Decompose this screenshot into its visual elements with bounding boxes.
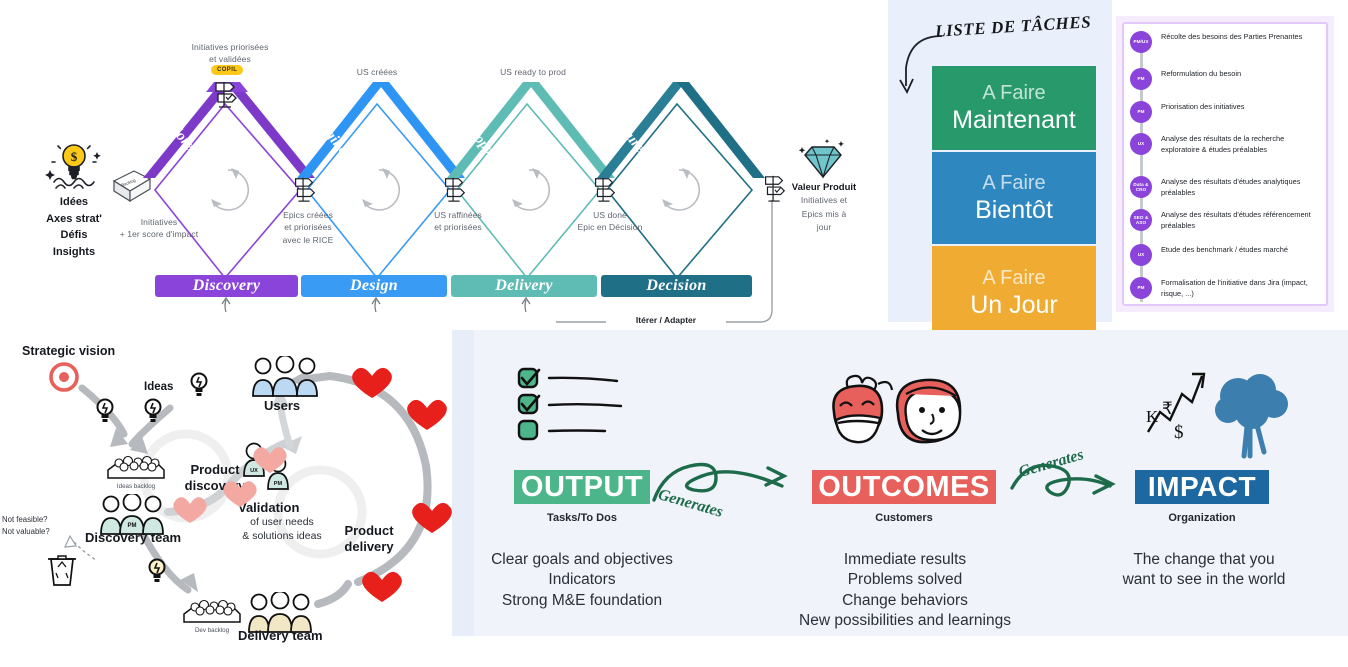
role-badge-7: PM bbox=[1130, 277, 1152, 299]
us-creees-caption: US créées bbox=[332, 66, 422, 78]
role-text-6: Etude des benchmark / études marché bbox=[1161, 244, 1313, 255]
loop-label: Itérer / Adapter bbox=[606, 315, 726, 325]
gate-signpost-icon-3 bbox=[590, 172, 618, 206]
role-badge-4: Data & CRO bbox=[1130, 176, 1152, 198]
outcomes-body: Immediate results Problems solved Change… bbox=[760, 550, 1050, 632]
role-text-4: Analyse des résultats d'études analytiqu… bbox=[1161, 176, 1313, 199]
task-card-unjour-big: Un Jour bbox=[970, 290, 1058, 320]
phase-bar-decision[interactable]: Decision bbox=[601, 275, 752, 297]
epics-gate-line-2: et priorisées bbox=[272, 221, 344, 233]
task-card-bientot[interactable]: A Faire Bientôt bbox=[932, 152, 1096, 244]
epics-gate-line-1: Epics créées bbox=[272, 209, 344, 221]
impact-body-1: The change that you bbox=[1090, 550, 1318, 570]
checklist-icon bbox=[515, 365, 645, 443]
valeur-line-1: Initiatives et bbox=[778, 194, 870, 208]
outcomes-tag: OUTCOMES bbox=[812, 470, 996, 504]
copil-badge: COPIL bbox=[211, 65, 243, 75]
impact-body: The change that you want to see in the w… bbox=[1090, 550, 1318, 591]
output-body: Clear goals and objectives Indicators St… bbox=[460, 550, 704, 611]
us-done-gate-caption: US done Epic en Décision bbox=[568, 209, 652, 234]
role-badge-0: PM/UX bbox=[1130, 31, 1152, 53]
gate-signpost-icon-1 bbox=[290, 172, 318, 206]
role-text-5: Analyse des résultats d'études référence… bbox=[1161, 209, 1313, 232]
us-raffinees-line-1: US raffinées bbox=[422, 209, 494, 221]
phase-bar-design[interactable]: Design bbox=[301, 275, 447, 297]
copil-milestone-caption: Initiatives priorisées et validées bbox=[170, 41, 290, 66]
output-body-1: Clear goals and objectives bbox=[460, 550, 704, 570]
valeur-line-3: jour bbox=[778, 221, 870, 235]
happy-faces-icon bbox=[820, 368, 1000, 458]
task-card-bientot-big: Bientôt bbox=[975, 195, 1053, 225]
role-item-5[interactable]: SEO & ASO Analyse des résultats d'études… bbox=[1130, 209, 1313, 232]
us-raffinees-gate-caption: US raffinées et priorisées bbox=[422, 209, 494, 234]
impact-body-2: want to see in the world bbox=[1090, 570, 1318, 590]
us-ready-caption: US ready to prod bbox=[483, 66, 583, 78]
role-badge-3: UX bbox=[1130, 133, 1152, 155]
role-text-7: Formalisation de l'initiative dans Jira … bbox=[1161, 277, 1313, 300]
role-badge-1: PM bbox=[1130, 68, 1152, 90]
phase-bar-delivery[interactable]: Delivery bbox=[451, 275, 597, 297]
svg-text:$: $ bbox=[1174, 422, 1184, 443]
us-raffinees-line-2: et priorisées bbox=[422, 221, 494, 233]
epics-gate-caption: Epics créées et priorisées avec le RICE bbox=[272, 209, 344, 246]
task-card-unjour[interactable]: A Faire Un Jour bbox=[932, 246, 1096, 340]
output-body-3: Strong M&E foundation bbox=[460, 591, 704, 611]
signpost-icon bbox=[210, 78, 240, 110]
valeur-line-2: Epics mis à bbox=[778, 208, 870, 222]
outcomes-body-2: Problems solved bbox=[760, 570, 1050, 590]
impact-subtitle: Organization bbox=[1135, 512, 1269, 524]
copil-caption-2: et validées bbox=[170, 53, 290, 65]
us-done-line-2: Epic en Décision bbox=[568, 221, 652, 233]
gate-signpost-icon-2 bbox=[440, 172, 468, 206]
role-item-6[interactable]: UX Etude des benchmark / études marché bbox=[1130, 244, 1313, 266]
role-text-3: Analyse des résultats de la recherche ex… bbox=[1161, 133, 1313, 156]
output-tag: OUTPUT bbox=[514, 470, 650, 504]
double-diamond-diagram: $ Idées Axes strat' Défis Insights Backl… bbox=[0, 0, 888, 336]
role-badge-2: PM bbox=[1130, 101, 1152, 123]
task-card-unjour-small: A Faire bbox=[982, 267, 1045, 290]
task-card-bientot-small: A Faire bbox=[982, 172, 1045, 195]
task-card-maintenant-small: A Faire bbox=[982, 82, 1045, 105]
role-item-3[interactable]: UX Analyse des résultats de la recherche… bbox=[1130, 133, 1313, 156]
role-text-2: Priorisation des initiatives bbox=[1161, 101, 1313, 112]
output-body-2: Indicators bbox=[460, 570, 704, 590]
svg-text:₹: ₹ bbox=[1162, 399, 1173, 418]
role-badge-6: UX bbox=[1130, 244, 1152, 266]
role-item-0[interactable]: PM/UX Récolte des besoins des Parties Pr… bbox=[1130, 31, 1313, 53]
outcomes-body-1: Immediate results bbox=[760, 550, 1050, 570]
growth-tree-icon: K ₹ $ bbox=[1140, 368, 1290, 460]
outcomes-subtitle: Customers bbox=[812, 512, 996, 524]
role-item-4[interactable]: Data & CRO Analyse des résultats d'étude… bbox=[1130, 176, 1313, 199]
role-item-1[interactable]: PM Reformulation du besoin bbox=[1130, 68, 1313, 90]
task-card-maintenant[interactable]: A Faire Maintenant bbox=[932, 66, 1096, 150]
valeur-produit-title: Valeur Produit bbox=[778, 182, 870, 193]
impact-tag: IMPACT bbox=[1135, 470, 1269, 504]
hearts-icons bbox=[0, 336, 452, 667]
output-subtitle: Tasks/To Dos bbox=[514, 512, 650, 524]
task-card-maintenant-big: Maintenant bbox=[952, 105, 1076, 135]
role-text-1: Reformulation du besoin bbox=[1161, 68, 1313, 79]
role-item-2[interactable]: PM Priorisation des initiatives bbox=[1130, 101, 1313, 123]
product-discovery-wheel: Strategic vision Ideas Ideas backlog PM bbox=[0, 336, 452, 667]
outcomes-body-3: Change behaviors bbox=[760, 591, 1050, 611]
diamond-gem-icon bbox=[796, 137, 850, 185]
phase-bar-discovery[interactable]: Discovery bbox=[155, 275, 298, 297]
role-text-0: Récolte des besoins des Parties Prenante… bbox=[1161, 31, 1313, 42]
valeur-produit-caption: Initiatives et Epics mis à jour bbox=[778, 194, 870, 235]
role-item-7[interactable]: PM Formalisation de l'initiative dans Ji… bbox=[1130, 277, 1313, 300]
role-badge-5: SEO & ASO bbox=[1130, 209, 1152, 231]
epics-gate-line-3: avec le RICE bbox=[272, 234, 344, 246]
outcomes-body-4: New possibilities and learnings bbox=[760, 611, 1050, 631]
svg-text:K: K bbox=[1146, 407, 1159, 426]
us-done-line-1: US done bbox=[568, 209, 652, 221]
copil-caption-1: Initiatives priorisées bbox=[170, 41, 290, 53]
